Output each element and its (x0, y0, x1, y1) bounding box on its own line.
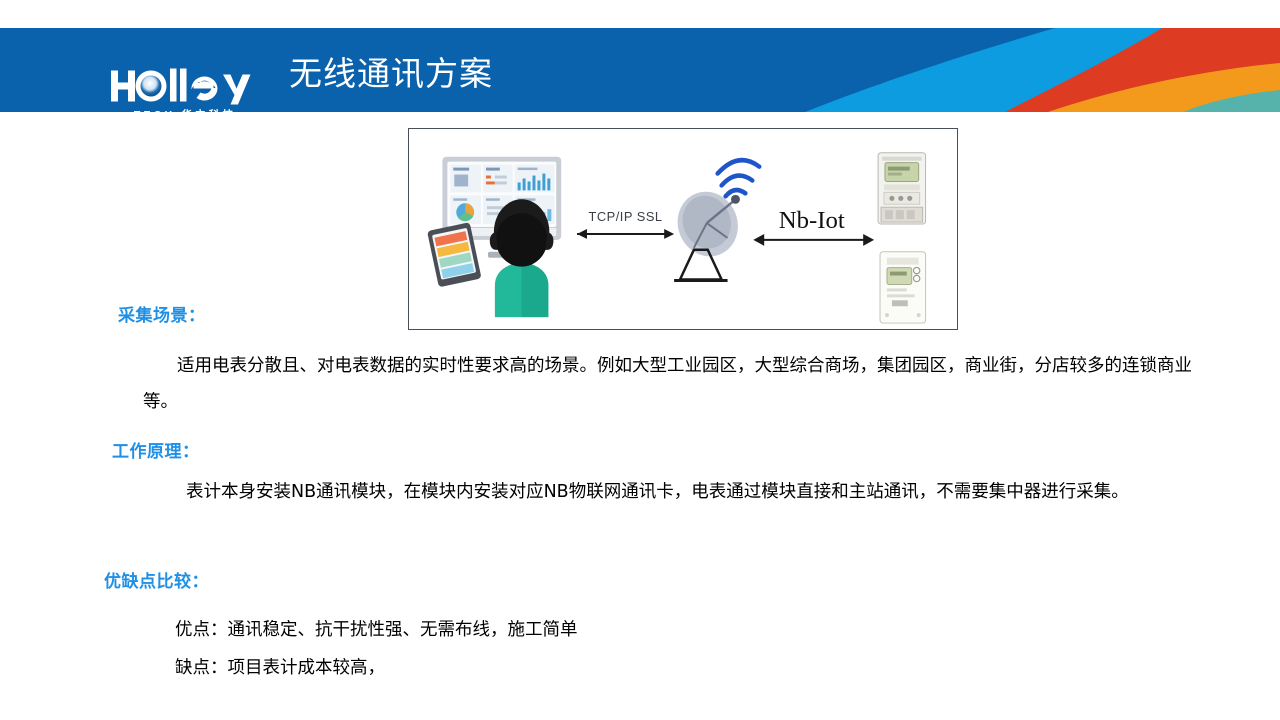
section-heading-principle: 工作原理： (112, 437, 200, 462)
satellite-dish-illustration (668, 160, 759, 280)
architecture-diagram-graphic: TCP/IP SSL Nb-Iot (409, 129, 957, 329)
holley-logo-subtitle: TECH 华立科技 (110, 107, 260, 112)
workstation-illustration (427, 157, 561, 317)
holley-wordmark-icon (110, 67, 260, 107)
pros-cons-disadvantage-line: 缺点：项目表计成本较高， (175, 654, 385, 679)
section-paragraph-scenario: 适用电表分散且、对电表数据的实时性要求高的场景。例如大型工业园区，大型综合商场，… (143, 348, 1213, 420)
electric-meter-top (878, 153, 926, 224)
electric-meter-bottom (880, 252, 926, 323)
section-paragraph-principle: 表计本身安装NB通讯模块，在模块内安装对应NB物联网通讯卡，电表通过模块直接和主… (152, 474, 1215, 510)
section-heading-pros-cons: 优缺点比较： (104, 567, 209, 592)
holley-logo: TECH 华立科技 (110, 67, 260, 112)
header-banner: TECH 华立科技 (0, 28, 1280, 112)
section-heading-scenario: 采集场景： (118, 301, 206, 326)
page-title: 无线通讯方案 (289, 47, 493, 95)
pros-cons-advantage-line: 优点：通讯稳定、抗干扰性强、无需布线，施工简单 (175, 616, 578, 641)
svg-text:Nb-Iot: Nb-Iot (779, 207, 845, 234)
link-nbiot: Nb-Iot (753, 207, 874, 246)
architecture-diagram: TCP/IP SSL Nb-Iot (408, 128, 958, 330)
svg-text:TCP/IP SSL: TCP/IP SSL (589, 209, 663, 224)
link-tcpip-ssl: TCP/IP SSL (577, 209, 674, 239)
